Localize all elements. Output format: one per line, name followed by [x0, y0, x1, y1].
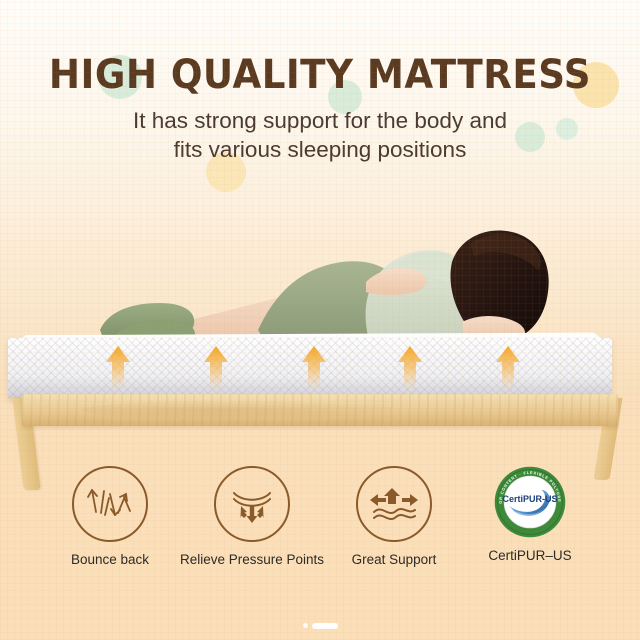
pagination-dot[interactable]	[303, 623, 308, 628]
feature-relieve-pressure-points[interactable]: Relieve Pressure Points	[172, 466, 332, 568]
great-support-wave-icon	[356, 466, 432, 542]
bounce-back-arrows-icon	[72, 466, 148, 542]
feature-certipur-us[interactable]: CertiPUR-US CERTIFIED FOR CONTENT · FLEX…	[450, 466, 610, 564]
feature-list: Bounce back Relieve Pressure Points	[0, 466, 640, 596]
support-arrow	[495, 345, 521, 391]
feature-label: Relieve Pressure Points	[172, 552, 332, 568]
support-arrow	[203, 345, 229, 391]
feature-label: Bounce back	[30, 552, 190, 568]
feature-bounce-back[interactable]: Bounce back	[30, 466, 190, 568]
pagination-active-pill[interactable]	[312, 623, 338, 629]
badge-brand-text: CertiPUR-US	[502, 494, 557, 504]
pagination-indicator[interactable]	[0, 617, 640, 629]
support-arrow	[105, 345, 131, 391]
wooden-bed-frame	[22, 394, 618, 426]
support-arrow	[301, 345, 327, 391]
relieve-pressure-points-icon	[214, 466, 290, 542]
feature-label: CertiPUR–US	[450, 548, 610, 564]
certipur-us-badge-icon: CertiPUR-US CERTIFIED FOR CONTENT · FLEX…	[494, 466, 566, 538]
support-arrow	[397, 345, 423, 391]
product-marketing-image: HIGH QUALITY MATTRESS It has strong supp…	[0, 0, 640, 640]
